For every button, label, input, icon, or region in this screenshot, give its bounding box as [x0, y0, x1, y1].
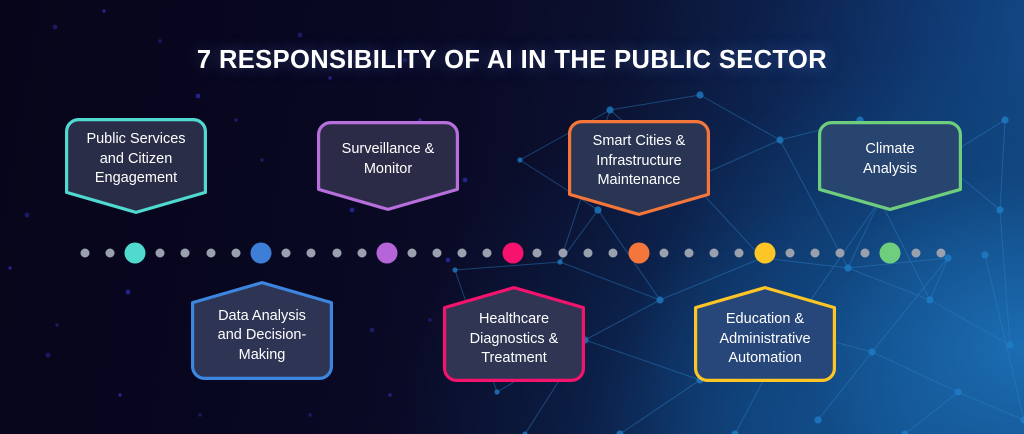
timeline-dot-milestone-6[interactable]	[755, 243, 776, 264]
timeline-dot-minor	[156, 249, 165, 258]
card-label: Data Analysis and Decision- Making	[218, 307, 307, 365]
infographic-canvas: 7 RESPONSIBILITY OF AI IN THE PUBLIC SEC…	[0, 0, 1024, 434]
timeline-dot-milestone-2[interactable]	[251, 243, 272, 264]
timeline-dot-minor	[912, 249, 921, 258]
timeline-dot-minor	[106, 249, 115, 258]
timeline-dot-minor	[181, 249, 190, 258]
timeline-dot-minor	[811, 249, 820, 258]
responsibility-card-1[interactable]: Public Services and Citizen Engagement	[65, 118, 207, 214]
responsibility-card-5[interactable]: Smart Cities & Infrastructure Maintenanc…	[568, 120, 710, 216]
timeline-dot-minor	[483, 249, 492, 258]
page-title: 7 RESPONSIBILITY OF AI IN THE PUBLIC SEC…	[0, 46, 1024, 75]
timeline-track	[0, 253, 1024, 254]
timeline-dot-minor	[333, 249, 342, 258]
timeline-dot-minor	[735, 249, 744, 258]
timeline-dot-minor	[685, 249, 694, 258]
card-label: Climate Analysis	[863, 140, 917, 179]
responsibility-card-2[interactable]: Data Analysis and Decision- Making	[191, 281, 333, 380]
timeline-dot-minor	[559, 249, 568, 258]
timeline-dot-minor	[609, 249, 618, 258]
timeline-dot-minor	[786, 249, 795, 258]
timeline-dot-minor	[433, 249, 442, 258]
timeline-dot-milestone-3[interactable]	[377, 243, 398, 264]
responsibility-card-7[interactable]: Climate Analysis	[818, 121, 962, 211]
responsibility-card-3[interactable]: Surveillance & Monitor	[317, 121, 459, 211]
timeline-dot-minor	[81, 249, 90, 258]
timeline-dot-milestone-1[interactable]	[125, 243, 146, 264]
card-label: Smart Cities & Infrastructure Maintenanc…	[593, 132, 686, 190]
timeline-dot-milestone-4[interactable]	[503, 243, 524, 264]
responsibility-card-6[interactable]: Education & Administrative Automation	[694, 286, 836, 382]
card-label: Public Services and Citizen Engagement	[86, 130, 185, 188]
timeline-dot-milestone-7[interactable]	[880, 243, 901, 264]
timeline-dot-minor	[207, 249, 216, 258]
timeline-dot-minor	[307, 249, 316, 258]
timeline-dot-milestone-5[interactable]	[629, 243, 650, 264]
card-label: Education & Administrative Automation	[719, 310, 810, 368]
responsibility-card-4[interactable]: Healthcare Diagnostics & Treatment	[443, 286, 585, 382]
timeline-dot-minor	[710, 249, 719, 258]
timeline-dot-minor	[282, 249, 291, 258]
card-label: Healthcare Diagnostics & Treatment	[470, 310, 559, 368]
timeline-dot-minor	[232, 249, 241, 258]
timeline-dot-minor	[660, 249, 669, 258]
card-label: Surveillance & Monitor	[342, 140, 435, 179]
timeline-dot-minor	[861, 249, 870, 258]
timeline-dot-minor	[458, 249, 467, 258]
timeline-dot-minor	[937, 249, 946, 258]
timeline-dot-minor	[408, 249, 417, 258]
timeline-dot-minor	[584, 249, 593, 258]
timeline-dot-minor	[358, 249, 367, 258]
timeline-dot-minor	[533, 249, 542, 258]
timeline-dot-minor	[836, 249, 845, 258]
